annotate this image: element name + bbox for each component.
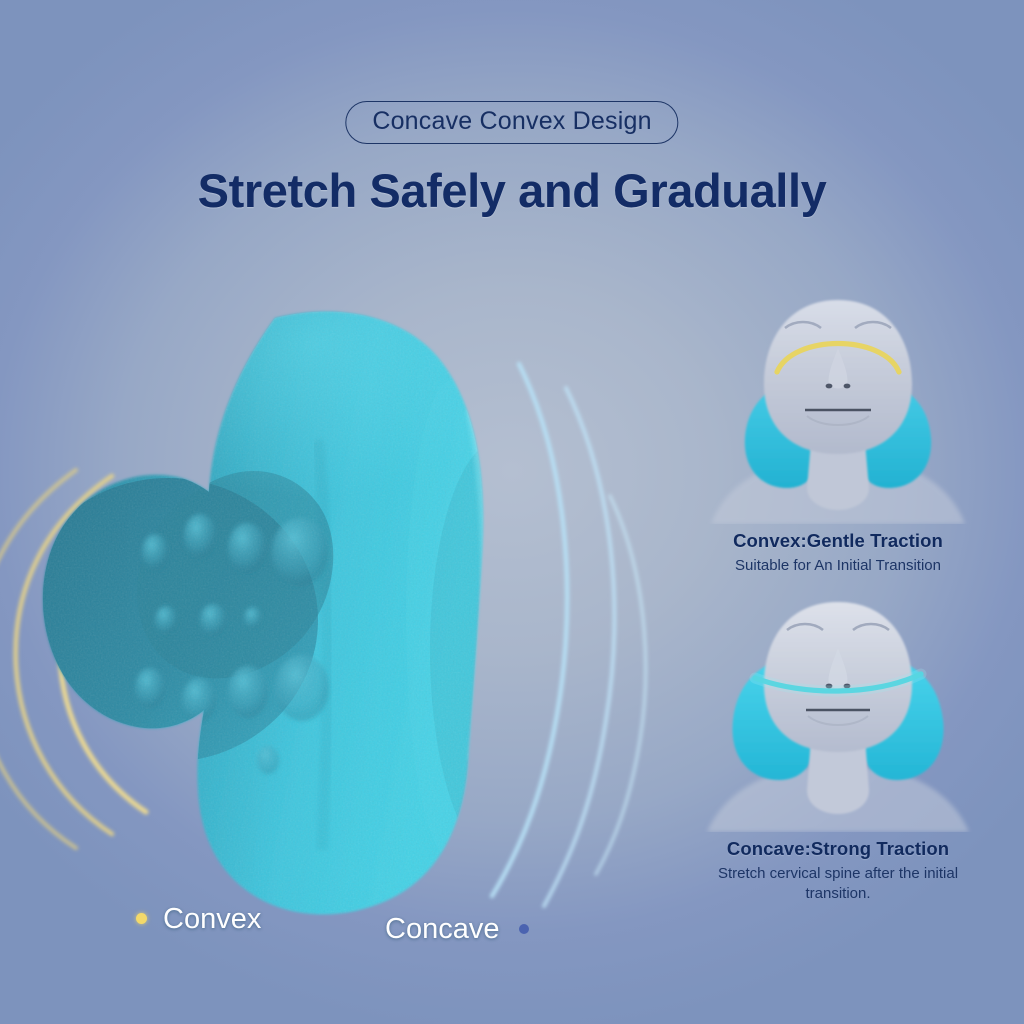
design-badge: Concave Convex Design	[345, 101, 678, 144]
concave-dot-icon	[519, 924, 529, 934]
panel-convex-title: Convex:Gentle Traction	[673, 530, 1003, 552]
face-with-pillow-concave-icon	[693, 600, 983, 832]
concave-label: Concave	[385, 913, 499, 946]
infographic-canvas: Concave Convex Design Stretch Safely and…	[0, 0, 1024, 1024]
panel-convex: Convex:Gentle Traction Suitable for An I…	[673, 292, 1003, 576]
product-svg	[0, 290, 680, 950]
blue-arc-waves-icon	[492, 364, 646, 906]
face-with-pillow-convex-icon	[693, 292, 983, 524]
convex-dot-icon	[136, 913, 147, 924]
page-title: Stretch Safely and Gradually	[198, 163, 827, 218]
panel-concave-title: Concave:Strong Traction	[673, 838, 1003, 860]
panel-concave: Concave:Strong Traction Stretch cervical…	[673, 600, 1003, 904]
figure-convex	[693, 292, 983, 524]
figure-concave	[693, 600, 983, 832]
convex-label: Convex	[163, 903, 261, 936]
product-illustration: Convex Concave	[0, 290, 680, 950]
panel-convex-subtitle: Suitable for An Initial Transition	[673, 556, 1003, 576]
panel-concave-subtitle: Stretch cervical spine after the initial…	[673, 864, 1003, 904]
